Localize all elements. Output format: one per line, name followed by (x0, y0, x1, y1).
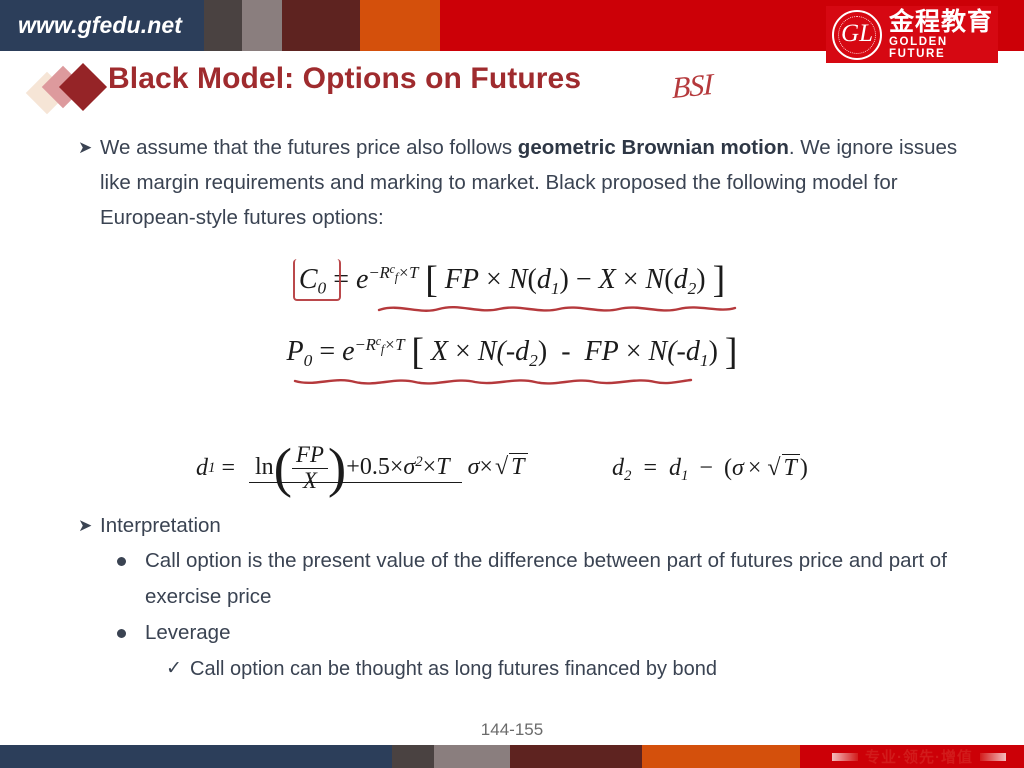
formula-put-equals: = (319, 336, 335, 367)
bullet-assumption-text-before: We assume that the futures price also fo… (100, 136, 518, 159)
formula-put-exp-times: × (384, 335, 395, 354)
formula-d1-den-times: × (479, 454, 493, 480)
formula-d1-times-1: × (390, 454, 404, 480)
header-segment-orange (360, 0, 440, 51)
formula-d1-equals: = (221, 455, 235, 482)
sub-bullet-call-option-text: Call option is the present value of the … (145, 549, 947, 608)
formula-call-e: e (356, 264, 368, 295)
formula-d1-paren-close: ) (328, 448, 346, 488)
formula-d1-den-T: T (509, 453, 527, 481)
formula-call-d1-open: ( (528, 264, 537, 295)
formula-put-close-bracket: ] (725, 331, 738, 373)
footer-segment-mauve-gray (434, 745, 510, 768)
formula-put-minus: - (561, 336, 570, 367)
slide-body: ➤ We assume that the futures price also … (0, 130, 1024, 235)
formula-d1-denominator: σ×√T (462, 451, 534, 480)
formula-put-option: P0 = e−Rcf×T [ X × N(-d2) - FP × N(-d1) … (0, 330, 1024, 374)
formula-call-X: X (599, 264, 616, 295)
sub-bullet-leverage-text: Leverage (145, 621, 230, 644)
formula-d2-rhs-d-sub: 1 (681, 468, 688, 484)
formula-d1-radical-icon: √ (495, 454, 508, 480)
formula-put-exp-T: T (395, 335, 404, 354)
page-number: 144-155 (0, 720, 1024, 740)
formula-call-close-bracket: ] (713, 259, 726, 301)
formula-d2-sigma: σ (732, 455, 744, 481)
logo-chinese-name: 金程教育 (889, 9, 998, 35)
formula-d2-lhs: d (612, 455, 624, 481)
formula-d1-sigma: σ (403, 454, 415, 480)
formula-call-FP: FP (445, 264, 479, 295)
sub-sub-bullet-text: Call option can be thought as long futur… (190, 658, 717, 680)
footer-segment-orange (642, 745, 800, 768)
logo-text-block: 金程教育 GOLDEN FUTURE (889, 9, 998, 60)
formula-put-P-sub: 0 (304, 351, 313, 370)
formula-d1-plus: + (346, 454, 360, 480)
formula-call-open-bracket: [ (425, 259, 438, 301)
formula-put-open-bracket: [ (411, 331, 424, 373)
formula-call-lhs-group: C0 (299, 264, 326, 299)
formula-call-exp-R: R (380, 263, 390, 282)
formula-d1-fraction: ln(FPX)+0.5×σ2×T σ×√T (249, 442, 534, 494)
formula-put-N2: N (649, 336, 668, 367)
formula-put-e: e (342, 336, 354, 367)
check-bullet-icon: ✓ (166, 651, 182, 687)
formula-call-d2-open: ( (664, 264, 673, 295)
formula-put-times-2: × (626, 336, 642, 367)
formula-call-exponent: −Rcf×T (368, 263, 418, 282)
red-handdrawn-box (293, 259, 341, 301)
footer-tagline: 专业·领先·增值 (832, 746, 1006, 767)
formula-put-times-1: × (455, 336, 471, 367)
formula-d1-coef: 0.5 (360, 454, 390, 480)
formula-d1-paren-open: ( (274, 448, 292, 488)
formula-call-d1-close: ) (560, 264, 569, 295)
formula-d1-X: X (299, 467, 321, 493)
formula-d2-T: T (782, 454, 800, 482)
formula-put-X: X (431, 336, 448, 367)
tagline-dash-right-icon (980, 753, 1006, 761)
dot-bullet-icon-1 (117, 557, 126, 566)
formula-call-N1: N (509, 264, 528, 295)
formula-put-neg-d2-close: ) (538, 336, 547, 367)
logo-seal-icon: GL (832, 10, 882, 60)
formula-d2-lhs-sub: 2 (624, 468, 631, 484)
formula-d1-sqrt: √T (493, 453, 528, 481)
sub-bullet-call-option: Call option is the present value of the … (0, 543, 1024, 615)
handwritten-annotation: BSI (672, 68, 712, 106)
header-segment-dark-gray (204, 0, 242, 51)
title-row: Black Model: Options on Futures BSI (0, 62, 1024, 118)
formula-put-line: P0 = e−Rcf×T [ X × N(-d2) - FP × N(-d1) … (287, 330, 738, 374)
formula-call-d2-sub: 2 (688, 279, 697, 298)
formula-d1-sigma-power: 2 (415, 453, 422, 469)
footer-segment-navy (0, 745, 392, 768)
formula-call-d2: d (674, 264, 688, 295)
logo-english-name: GOLDEN FUTURE (889, 36, 998, 60)
formula-call-minus: − (576, 264, 592, 295)
formula-call-line: C0 = e−Rcf×T [ FP × N(d1) − X × N(d2) ] (299, 258, 725, 302)
formula-d2-sqrt: √T (765, 454, 800, 482)
formula-d1-den-sigma: σ (468, 454, 480, 480)
sub-bullet-leverage: Leverage (0, 615, 1024, 651)
formula-d2-open-paren: ( (724, 455, 732, 481)
formula-put-exp-R: R (366, 335, 376, 354)
formula-call-option: C0 = e−Rcf×T [ FP × N(d1) − X × N(d2) ] (0, 258, 1024, 302)
formula-call-times-2: × (623, 264, 639, 295)
formula-call-exp-minus: − (368, 263, 379, 282)
arrow-bullet-icon: ➤ (78, 130, 92, 165)
formula-call-d1: d (537, 264, 551, 295)
red-wavy-underline-put (293, 374, 693, 388)
formula-call-d1-sub: 1 (551, 279, 560, 298)
header-segment-navy: www.gfedu.net (0, 0, 204, 51)
footer-segment-maroon (510, 745, 642, 768)
formula-call-N2: N (646, 264, 665, 295)
formula-d-row: d1 = ln(FPX)+0.5×σ2×T σ×√T d2 = d1 − (σ×… (0, 420, 1024, 520)
interpretation-block: ➤ Interpretation Call option is the pres… (0, 508, 1024, 687)
formula-call-times-1: × (486, 264, 502, 295)
formula-put-neg-d2: (-d (497, 336, 530, 367)
logo-monogram: GL (841, 21, 873, 46)
formula-put-P: P (287, 336, 304, 367)
dot-bullet-icon-2 (117, 629, 126, 638)
formula-d2-close-paren: ) (800, 455, 808, 481)
formula-call-exp-T: T (409, 263, 418, 282)
page-title: Black Model: Options on Futures (108, 62, 581, 96)
formula-put-neg-d1-close: ) (709, 336, 718, 367)
brand-logo: GL 金程教育 GOLDEN FUTURE (826, 6, 998, 63)
sub-sub-bullet-long-futures: ✓ Call option can be thought as long fut… (0, 651, 1024, 687)
header-segment-mauve-gray (242, 0, 282, 51)
bullet-assumption: ➤ We assume that the futures price also … (0, 130, 980, 235)
formula-d1-inner-fraction: FPX (292, 442, 328, 494)
slide: www.gfedu.net GL 金程教育 GOLDEN FUTURE Blac… (0, 0, 1024, 768)
formula-put-FP: FP (585, 336, 619, 367)
formula-d1-times-2: × (423, 454, 437, 480)
formula-call-d2-close: ) (696, 264, 705, 295)
arrow-bullet-icon-2: ➤ (78, 508, 92, 543)
formula-d2-minus: − (699, 455, 713, 481)
formula-put-neg-d1: (-d (667, 336, 700, 367)
formula-d1-lhs: d (196, 455, 208, 482)
formula-d1: d1 = ln(FPX)+0.5×σ2×T σ×√T (196, 442, 534, 494)
formula-d2-equals: = (643, 455, 657, 481)
formula-d2-times: × (748, 455, 762, 481)
formula-d1-T: T (436, 454, 449, 480)
formula-put-N1: N (478, 336, 497, 367)
bullet-interpretation-text: Interpretation (100, 514, 221, 537)
bullet-interpretation: ➤ Interpretation (0, 508, 1024, 543)
formula-d2: d2 = d1 − (σ×√T) (612, 454, 808, 485)
formula-d1-numerator: ln(FPX)+0.5×σ2×T (249, 454, 462, 483)
formula-d2-rhs-d: d (669, 455, 681, 481)
site-url: www.gfedu.net (0, 12, 182, 39)
bullet-assumption-text-bold: geometric Brownian motion (518, 136, 789, 159)
tagline-text: 专业·领先·增值 (865, 746, 973, 767)
formula-d2-radical-icon: √ (767, 455, 780, 481)
formula-put-neg-d1-sub: 1 (700, 351, 709, 370)
formula-put-neg-d2-sub: 2 (529, 351, 538, 370)
footer-segment-dark-gray (392, 745, 434, 768)
formula-put-exp-minus: − (355, 335, 366, 354)
formula-d1-FP: FP (292, 442, 328, 469)
formula-d1-ln: ln (255, 454, 274, 480)
formula-d1-lhs-sub: 1 (208, 460, 215, 477)
formula-call-exp-times: × (398, 263, 409, 282)
tagline-dash-left-icon (832, 753, 858, 761)
red-wavy-underline-call (377, 302, 737, 316)
header-segment-maroon (282, 0, 360, 51)
formula-put-exponent: −Rcf×T (355, 335, 405, 354)
